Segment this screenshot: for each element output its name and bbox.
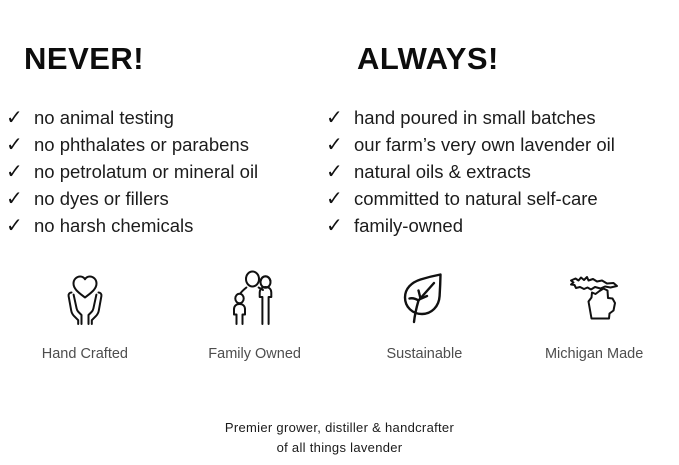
list-item-label: no petrolatum or mineral oil — [34, 158, 258, 185]
checkmark-icon: ✓ — [326, 212, 354, 239]
list-item-label: hand poured in small batches — [354, 104, 596, 131]
badge-sustainable: Sustainable — [340, 262, 510, 362]
list-item-label: no phthalates or parabens — [34, 131, 249, 158]
list-item-label: our farm’s very own lavender oil — [354, 131, 615, 158]
list-item-label: committed to natural self-care — [354, 185, 598, 212]
always-list: ✓ hand poured in small batches ✓ our far… — [326, 104, 615, 239]
footer-line-1: Premier grower, distiller & handcrafter — [0, 418, 679, 438]
checkmark-icon: ✓ — [6, 104, 34, 131]
hands-heart-icon — [54, 262, 116, 334]
checkmark-icon: ✓ — [6, 158, 34, 185]
checkmark-icon: ✓ — [326, 158, 354, 185]
badge-label: Michigan Made — [545, 346, 643, 362]
never-list: ✓ no animal testing ✓ no phthalates or p… — [6, 104, 258, 239]
list-item: ✓ no phthalates or parabens — [6, 131, 258, 158]
footer-tagline: Premier grower, distiller & handcrafter … — [0, 418, 679, 458]
page-title-always: ALWAYS! — [357, 41, 499, 77]
headings-row: NEVER! ALWAYS! — [0, 41, 679, 81]
list-item: ✓ hand poured in small batches — [326, 104, 615, 131]
badge-label: Sustainable — [386, 346, 462, 362]
list-item-label: no dyes or fillers — [34, 185, 169, 212]
michigan-state-icon — [562, 262, 626, 334]
list-item: ✓ no petrolatum or mineral oil — [6, 158, 258, 185]
checkmark-icon: ✓ — [6, 212, 34, 239]
footer-line-2: of all things lavender — [0, 438, 679, 458]
family-icon — [224, 262, 286, 334]
list-item: ✓ no dyes or fillers — [6, 185, 258, 212]
badge-label: Family Owned — [208, 346, 301, 362]
page-title-never: NEVER! — [24, 41, 144, 77]
list-item: ✓ no harsh chemicals — [6, 212, 258, 239]
checkmark-icon: ✓ — [326, 104, 354, 131]
list-item: ✓ family-owned — [326, 212, 615, 239]
checkmark-icon: ✓ — [6, 131, 34, 158]
list-item-label: natural oils & extracts — [354, 158, 531, 185]
checkmark-icon: ✓ — [6, 185, 34, 212]
badge-michigan-made: Michigan Made — [509, 262, 679, 362]
list-item: ✓ our farm’s very own lavender oil — [326, 131, 615, 158]
badges-row: Hand Crafted Family Owned — [0, 262, 679, 362]
list-item-label: no harsh chemicals — [34, 212, 193, 239]
list-item: ✓ committed to natural self-care — [326, 185, 615, 212]
list-item: ✓ natural oils & extracts — [326, 158, 615, 185]
leaf-icon — [393, 262, 455, 334]
checkmark-icon: ✓ — [326, 131, 354, 158]
list-item-label: no animal testing — [34, 104, 174, 131]
badge-hand-crafted: Hand Crafted — [0, 262, 170, 362]
list-item: ✓ no animal testing — [6, 104, 258, 131]
badge-label: Hand Crafted — [42, 346, 128, 362]
list-item-label: family-owned — [354, 212, 463, 239]
badge-family-owned: Family Owned — [170, 262, 340, 362]
checkmark-icon: ✓ — [326, 185, 354, 212]
